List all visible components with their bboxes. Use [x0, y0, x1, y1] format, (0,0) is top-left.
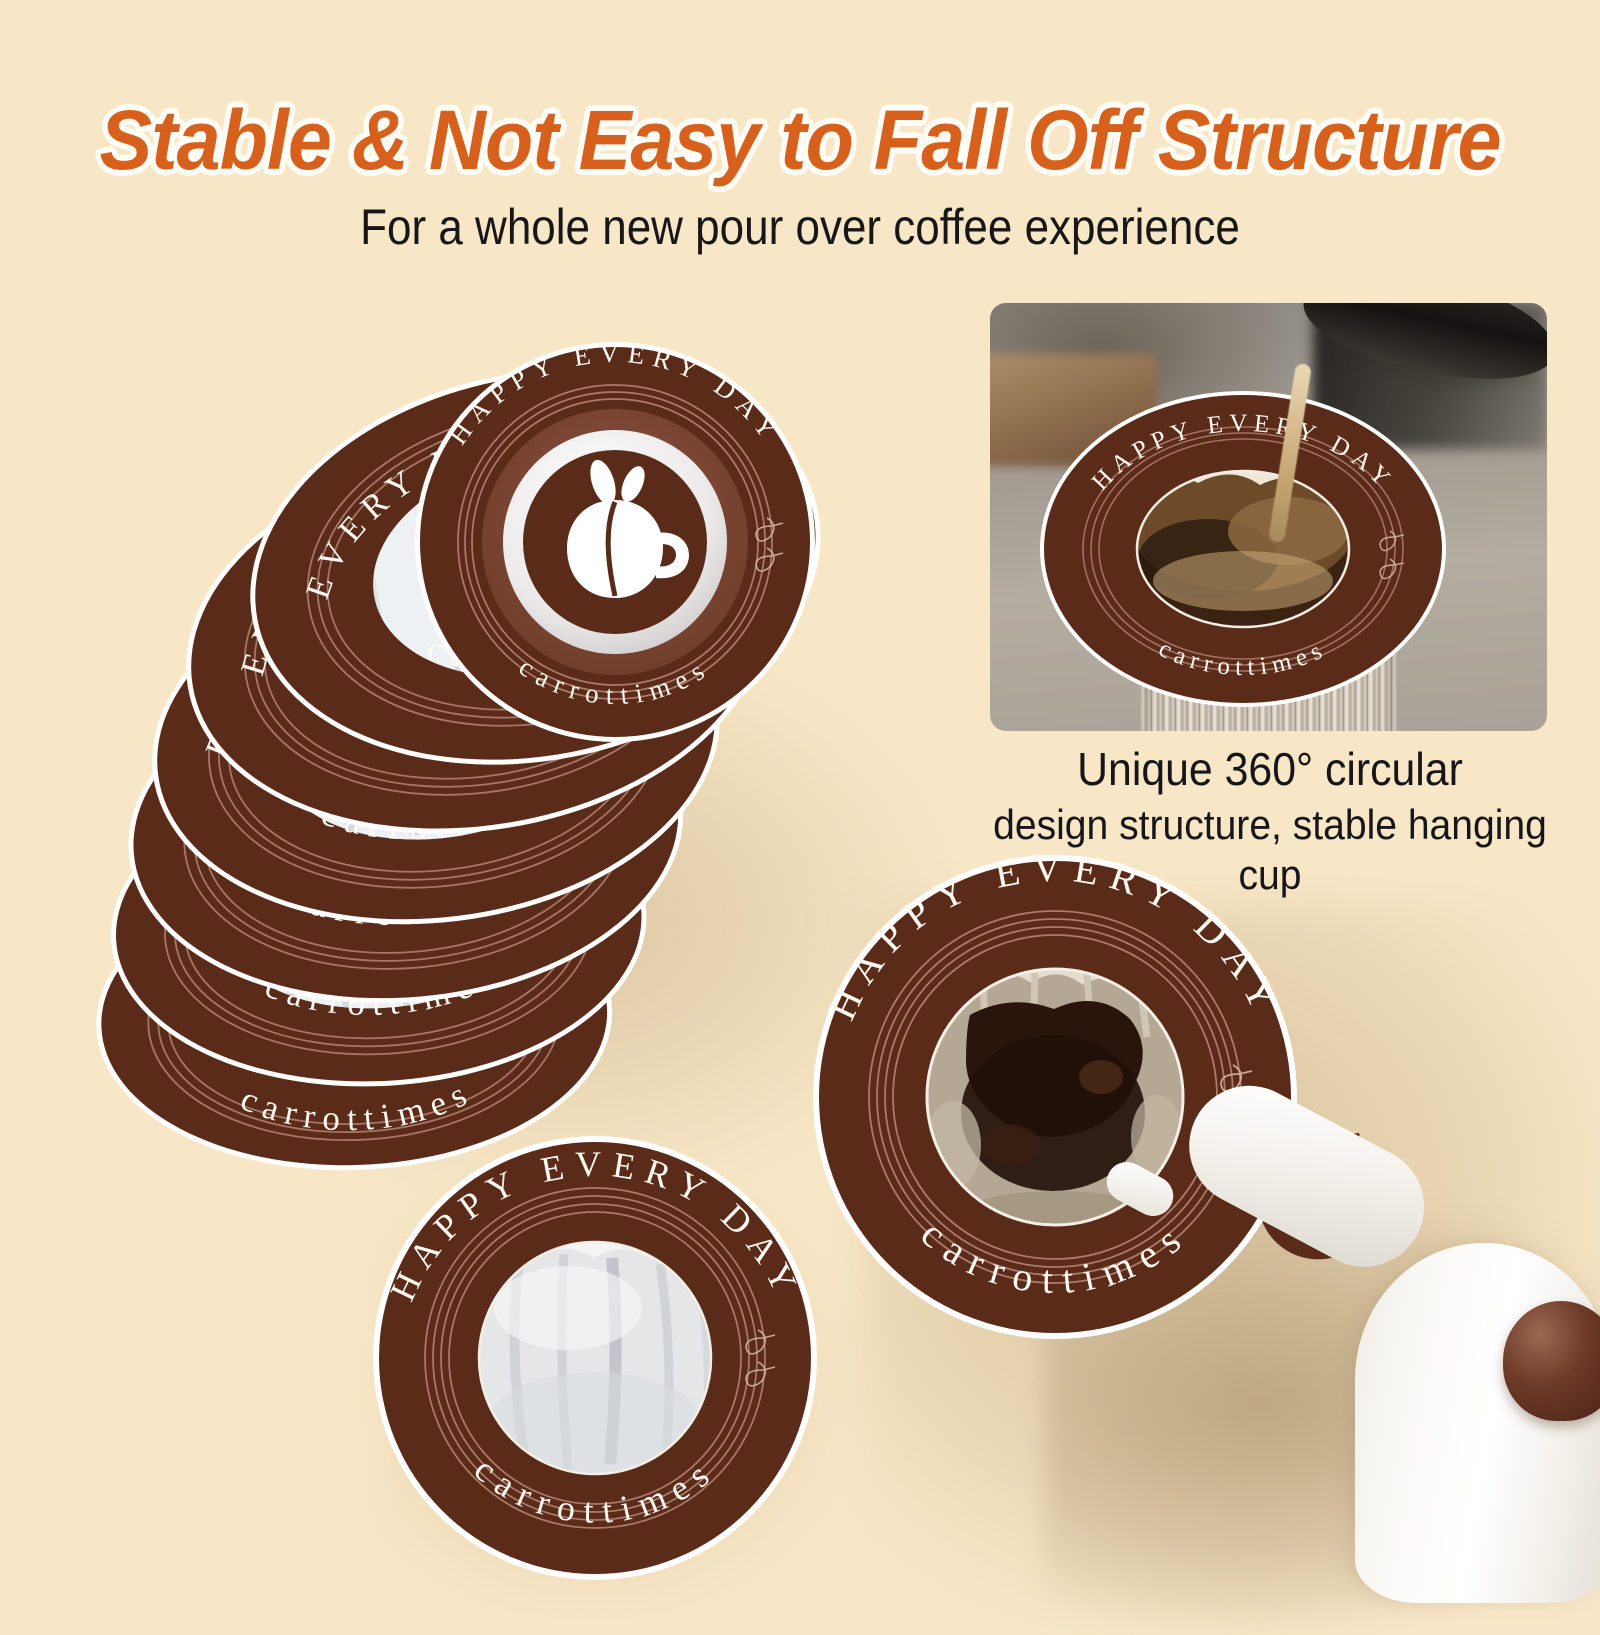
white-filter-disc: HAPPY EVERY DAY carrottimes	[368, 1128, 823, 1583]
caption-line-1: Unique 360° circular	[982, 742, 1559, 796]
kettle-knob	[1503, 1301, 1600, 1421]
page-subhead: For a whole new pour over coffee experie…	[96, 198, 1504, 256]
photo-disc: HAPPY EVERY DAY carrottimes	[1038, 381, 1448, 717]
logo-disc: HAPPY EVERY DAY carrottimes	[405, 330, 825, 750]
page-headline: Stable & Not Easy to Fall Off Structure	[48, 92, 1552, 189]
kettle-body	[1355, 1243, 1600, 1603]
white-kettle	[1335, 1205, 1600, 1605]
pour-over-photo: HAPPY EVERY DAY carrottimes	[990, 303, 1547, 731]
